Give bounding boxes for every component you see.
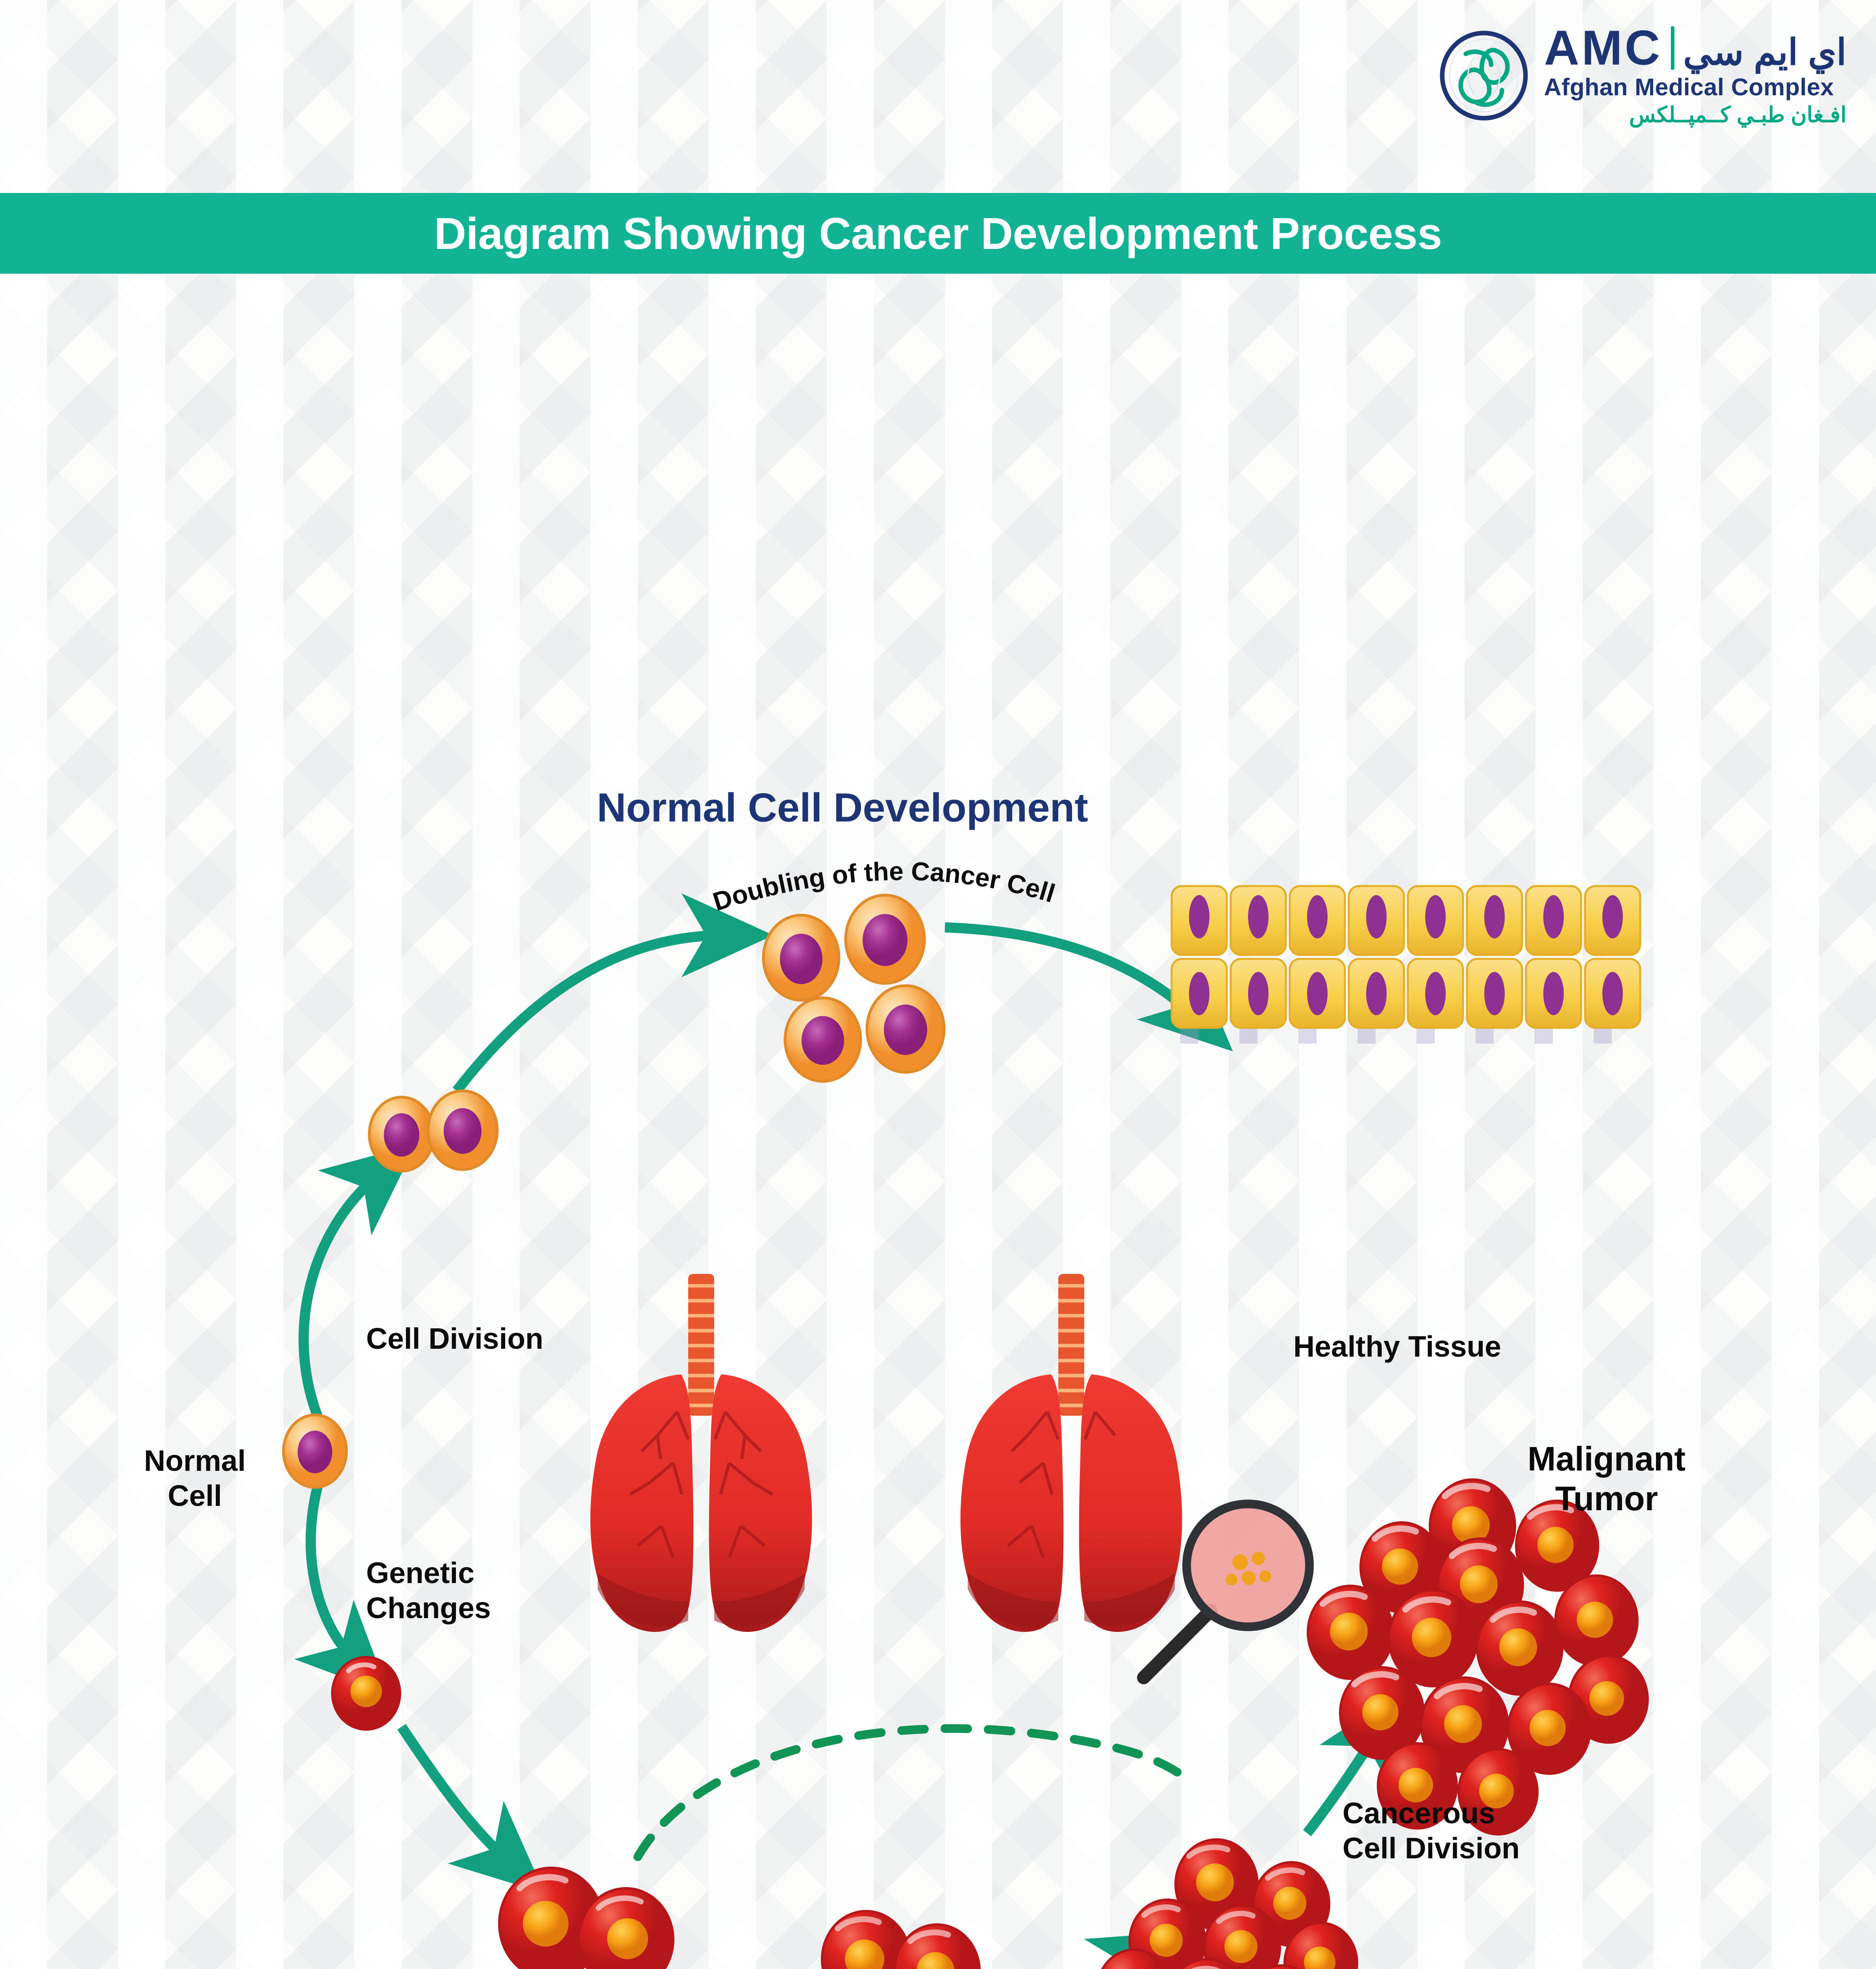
label-cell-division: Cell Division bbox=[366, 1321, 543, 1356]
heading-malignant-tumor: Malignant Tumor bbox=[1528, 1439, 1685, 1519]
amc-logo: AMC اي ايم سي Afghan Medical Complex افـ… bbox=[1439, 24, 1846, 128]
poster-root: AMC اي ايم سي Afghan Medical Complex افـ… bbox=[0, 0, 1876, 1969]
title-banner: Diagram Showing Cancer Development Proce… bbox=[0, 193, 1876, 274]
abnormal-cell-doublet-illustration bbox=[499, 1868, 673, 1969]
label-genetic-changes: Genetic Changes bbox=[366, 1556, 491, 1625]
abnormal-cell-cluster-illustration bbox=[1097, 1839, 1357, 1969]
page-title: Diagram Showing Cancer Development Proce… bbox=[434, 208, 1442, 259]
arrow-division-to-cluster bbox=[457, 935, 724, 1091]
amc-logo-text: AMC اي ايم سي Afghan Medical Complex افـ… bbox=[1544, 24, 1846, 128]
diagram-graphics: Doubling of the Cancer Cell bbox=[0, 274, 1876, 1969]
amc-cells-logo-icon bbox=[1439, 30, 1529, 121]
label-cancerous-cell-division: Cancerous Cell Division bbox=[1343, 1796, 1520, 1865]
healthy-lungs-illustration bbox=[591, 1274, 812, 1632]
mutated-cell-illustration bbox=[332, 1657, 400, 1730]
normal-cell-cluster-illustration bbox=[763, 895, 944, 1081]
healthy-tissue-illustration bbox=[1172, 886, 1640, 1044]
cancer-development-diagram: Doubling of the Cancer Cell Normal Cell … bbox=[0, 274, 1876, 1969]
amc-name-arabic: افـغان طبـي کــمپــلکس bbox=[1544, 102, 1846, 128]
normal-cell-illustration bbox=[283, 1415, 346, 1487]
amc-acronym-arabic: اي ايم سي bbox=[1683, 34, 1846, 70]
malignant-tumor-illustration bbox=[1308, 1480, 1648, 1834]
arrow-genetic-to-abnormal bbox=[402, 1727, 508, 1861]
arrow-normal-to-division bbox=[304, 1175, 378, 1422]
cell-division-illustration bbox=[369, 1091, 497, 1171]
poster-header: AMC اي ايم سي Afghan Medical Complex افـ… bbox=[0, 0, 1876, 189]
arrow-normal-to-genetic bbox=[311, 1479, 354, 1660]
cancerous-lungs-illustration bbox=[961, 1274, 1182, 1632]
abnormal-cell-quad-illustration bbox=[796, 1911, 980, 1969]
amc-name-english: Afghan Medical Complex bbox=[1544, 73, 1846, 101]
logo-divider bbox=[1671, 26, 1674, 70]
doubling-dashed-arc bbox=[638, 1728, 1177, 1857]
label-healthy-tissue: Healthy Tissue bbox=[1293, 1329, 1501, 1364]
arrow-cluster-to-tissue bbox=[945, 927, 1197, 1018]
amc-acronym: AMC bbox=[1544, 24, 1662, 72]
heading-normal-cell-development: Normal Cell Development bbox=[597, 784, 1088, 831]
label-normal-cell: Normal Cell bbox=[110, 1443, 280, 1513]
